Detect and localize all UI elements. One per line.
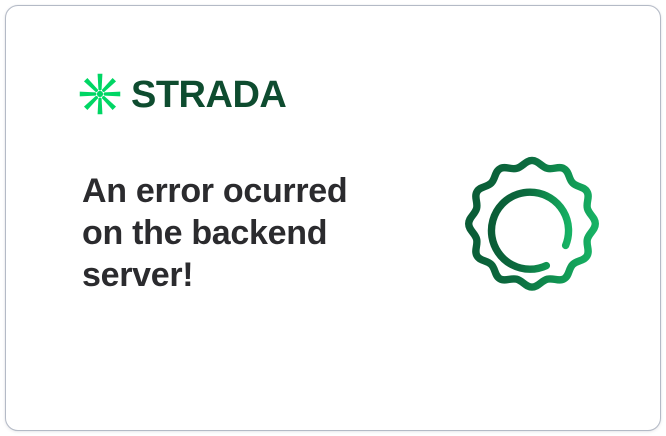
gear-icon [450,149,614,313]
strada-asterisk-icon [78,72,122,116]
error-message: An error ocurred on the backend server! [82,170,382,296]
brand-lockup: STRADA [78,72,286,116]
error-card: STRADA An error ocurred on the backend s… [5,5,661,431]
brand-wordmark: STRADA [131,76,286,114]
error-screen: STRADA An error ocurred on the backend s… [0,0,666,436]
gear-illustration [450,149,614,313]
